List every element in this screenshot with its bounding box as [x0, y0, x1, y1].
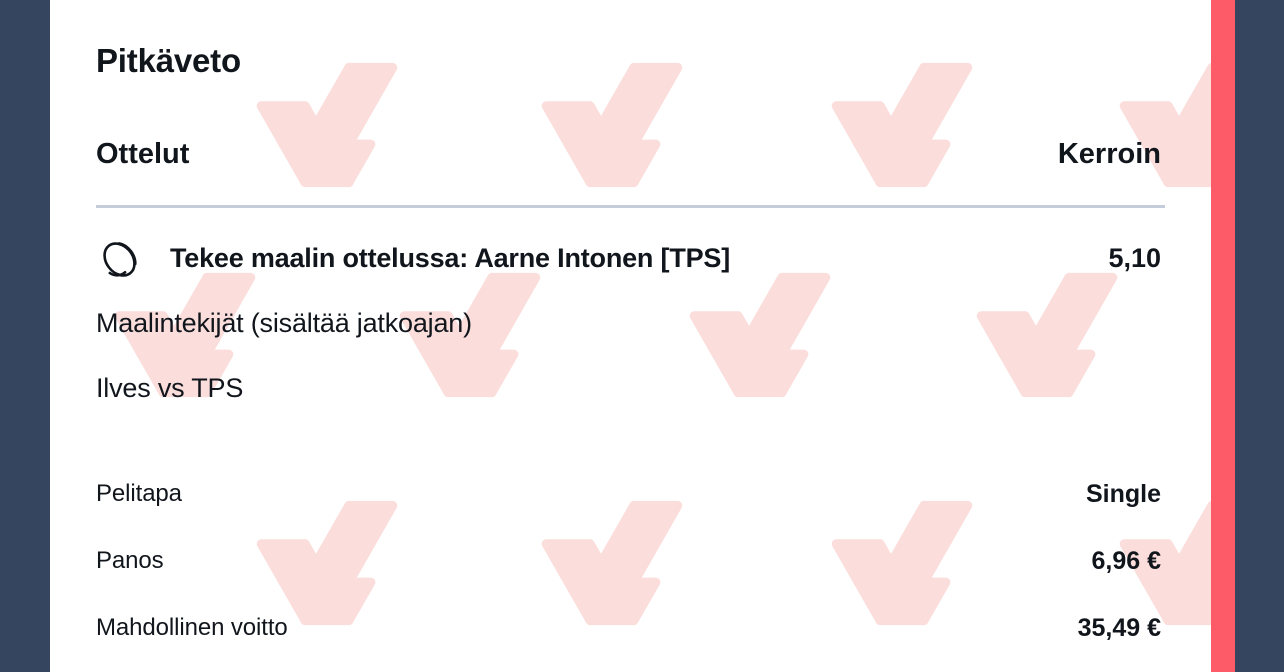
- bet-selection-odds: 5,10: [1108, 242, 1161, 276]
- betting-slip-screen: Pitkäveto Ottelut Kerroin Tekee maalin o…: [0, 0, 1284, 672]
- summary-row-value: 35,49 €: [1078, 612, 1161, 645]
- bet-selection-row[interactable]: Tekee maalin ottelussa: Aarne Intonen [T…: [96, 238, 1161, 282]
- column-header-matches: Ottelut: [96, 140, 189, 169]
- bet-summary-list: PelitapaSinglePanos6,96 €Mahdollinen voi…: [96, 478, 1161, 672]
- accent-bar: [1211, 0, 1235, 672]
- summary-row: Mahdollinen voitto35,49 €: [96, 612, 1161, 672]
- bet-market-name: Maalintekijät (sisältää jatkoajan): [96, 307, 472, 341]
- summary-row: PelitapaSingle: [96, 478, 1161, 545]
- summary-row-label: Panos: [96, 545, 164, 576]
- summary-row-label: Pelitapa: [96, 478, 182, 509]
- summary-row-label: Mahdollinen voitto: [96, 612, 288, 643]
- summary-row: Panos6,96 €: [96, 545, 1161, 612]
- column-header-odds: Kerroin: [1058, 140, 1161, 169]
- page-title: Pitkäveto: [96, 44, 241, 77]
- bet-receipt-card: Pitkäveto Ottelut Kerroin Tekee maalin o…: [50, 0, 1211, 672]
- summary-row-value: Single: [1086, 478, 1161, 511]
- hockey-puck-icon: [96, 240, 146, 282]
- header-divider: [96, 205, 1165, 208]
- receipt-content: Pitkäveto Ottelut Kerroin Tekee maalin o…: [50, 0, 1211, 672]
- bet-event-name: Ilves vs TPS: [96, 372, 243, 406]
- summary-row-value: 6,96 €: [1091, 545, 1161, 578]
- bet-selection-name: Tekee maalin ottelussa: Aarne Intonen [T…: [170, 242, 730, 276]
